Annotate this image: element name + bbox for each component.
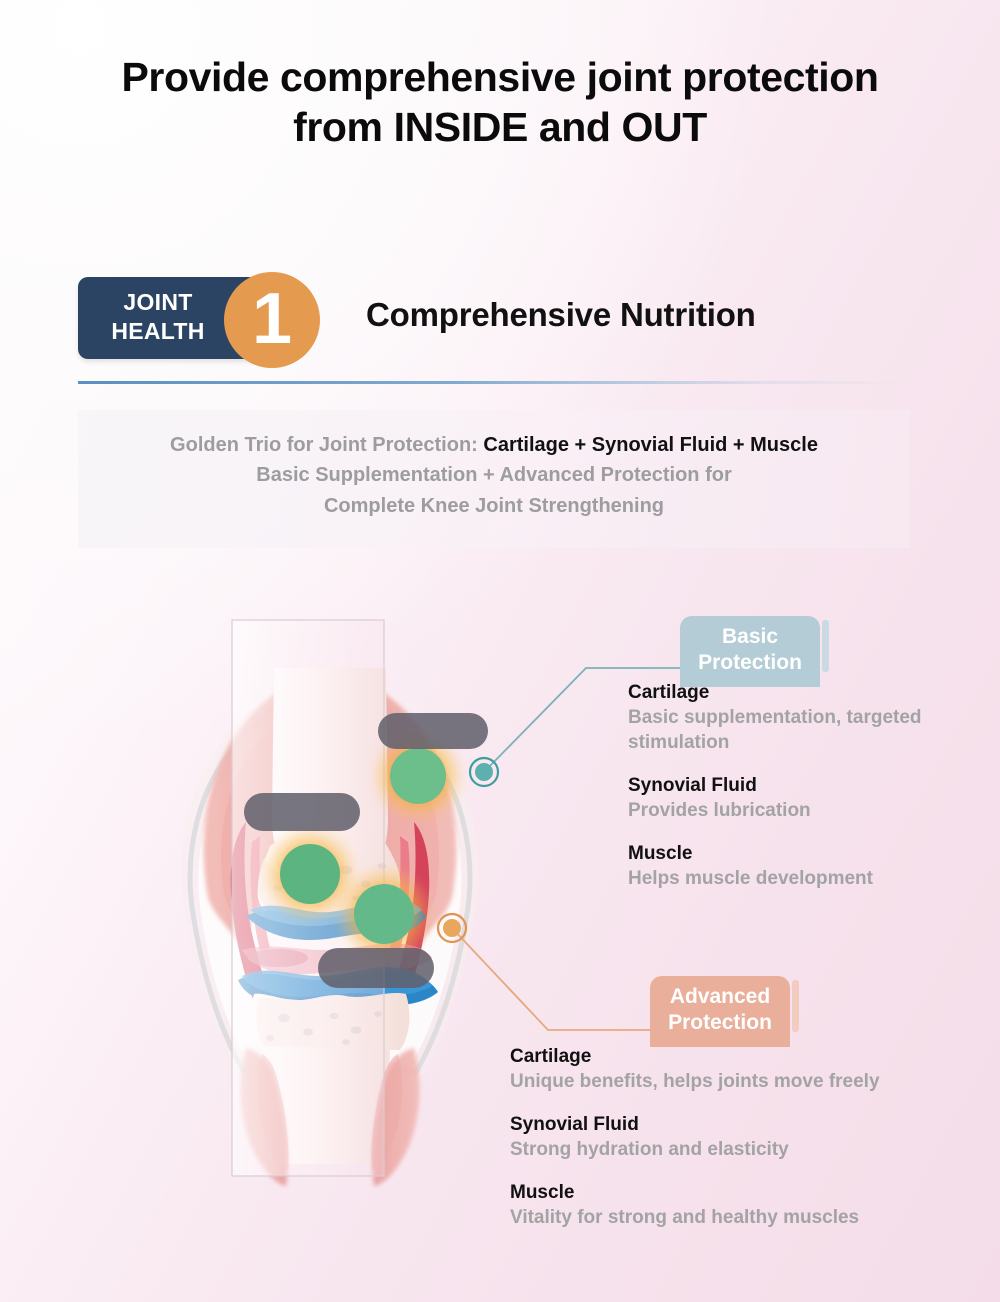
item-title: Muscle bbox=[510, 1180, 1000, 1205]
basic-badge-line-2: Protection bbox=[680, 650, 820, 676]
advanced-badge-line-2: Protection bbox=[650, 1010, 790, 1036]
item-title: Cartilage bbox=[510, 1044, 1000, 1069]
knee-joint-illustration bbox=[150, 598, 510, 1198]
joint-health-chip-label: JOINT HEALTH bbox=[78, 288, 238, 346]
advanced-badge-line-1: Advanced bbox=[650, 984, 790, 1010]
summary-highlight: Cartilage + Synovial Fluid + Muscle bbox=[483, 434, 818, 456]
redaction-box-bottom bbox=[318, 948, 434, 988]
item-desc: Provides lubrication bbox=[628, 798, 1000, 823]
chip-line-2: HEALTH bbox=[78, 317, 238, 346]
item-desc: Unique benefits, helps joints move freel… bbox=[510, 1069, 1000, 1094]
item-title: Synovial Fluid bbox=[510, 1112, 1000, 1137]
summary-lead: Golden Trio for Joint Protection: bbox=[170, 434, 478, 456]
page-headline: Provide comprehensive joint protection f… bbox=[0, 52, 1000, 152]
basic-protection-badge: Basic Protection bbox=[680, 616, 820, 687]
list-item: Muscle Vitality for strong and healthy m… bbox=[510, 1180, 1000, 1230]
redaction-box-mid bbox=[244, 793, 360, 831]
list-item: Cartilage Unique benefits, helps joints … bbox=[510, 1044, 1000, 1094]
section-header: JOINT HEALTH 1 Comprehensive Nutrition bbox=[78, 272, 928, 368]
headline-line-1: Provide comprehensive joint protection bbox=[121, 54, 878, 100]
list-item: Synovial Fluid Provides lubrication bbox=[628, 773, 1000, 823]
basic-protection-list: Cartilage Basic supplementation, targete… bbox=[628, 680, 1000, 892]
chip-line-1: JOINT bbox=[78, 288, 238, 317]
item-desc: Basic supplementation, targeted stimulat… bbox=[628, 705, 1000, 755]
headline-line-2: from INSIDE and OUT bbox=[0, 102, 1000, 152]
summary-text: Golden Trio for Joint Protection: Cartil… bbox=[78, 430, 910, 521]
basic-badge-edge-bar bbox=[822, 620, 829, 672]
advanced-protection-badge: Advanced Protection bbox=[650, 976, 790, 1047]
item-title: Muscle bbox=[628, 841, 1000, 866]
section-title: Comprehensive Nutrition bbox=[366, 296, 756, 334]
advanced-badge-edge-bar bbox=[792, 980, 799, 1032]
item-desc: Strong hydration and elasticity bbox=[510, 1137, 1000, 1162]
item-title: Synovial Fluid bbox=[628, 773, 1000, 798]
section-divider bbox=[78, 381, 910, 384]
summary-line-3: Complete Knee Joint Strengthening bbox=[324, 495, 664, 517]
advanced-protection-list: Cartilage Unique benefits, helps joints … bbox=[510, 1044, 1000, 1230]
step-number-circle: 1 bbox=[224, 272, 320, 368]
item-desc: Helps muscle development bbox=[628, 866, 1000, 891]
list-item: Synovial Fluid Strong hydration and elas… bbox=[510, 1112, 1000, 1162]
item-desc: Vitality for strong and healthy muscles bbox=[510, 1205, 1000, 1230]
redaction-box-top bbox=[378, 713, 488, 749]
list-item: Cartilage Basic supplementation, targete… bbox=[628, 680, 1000, 755]
item-title: Cartilage bbox=[628, 680, 1000, 705]
step-number-label: 1 bbox=[252, 283, 292, 355]
basic-badge-line-1: Basic bbox=[680, 624, 820, 650]
list-item: Muscle Helps muscle development bbox=[628, 841, 1000, 891]
summary-line-2: Basic Supplementation + Advanced Protect… bbox=[256, 464, 731, 486]
